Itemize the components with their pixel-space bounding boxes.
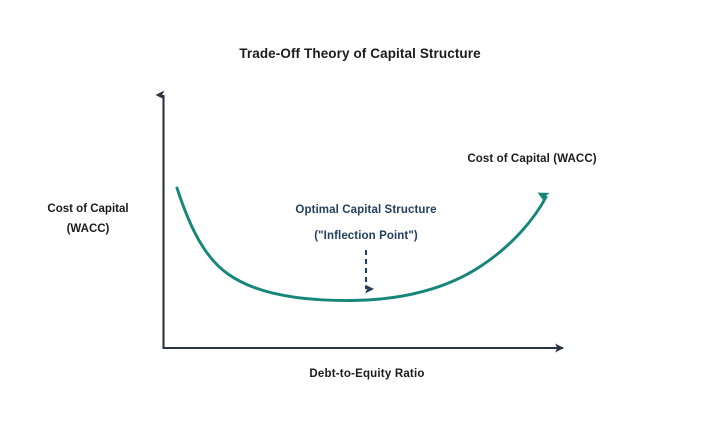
curve-label: Cost of Capital (WACC) xyxy=(372,153,692,165)
chart-figure: Trade-Off Theory of Capital Structure Co… xyxy=(0,0,720,425)
y-axis-label-line2: (WACC) xyxy=(0,219,176,239)
annotation-line2: ("Inflection Point") xyxy=(216,223,516,249)
optimal-structure-annotation: Optimal Capital Structure ("Inflection P… xyxy=(216,197,516,249)
chart-title: Trade-Off Theory of Capital Structure xyxy=(0,46,720,61)
y-axis-label: Cost of Capital (WACC) xyxy=(0,199,176,239)
annotation-line1: Optimal Capital Structure xyxy=(216,197,516,223)
x-axis-label: Debt-to-Equity Ratio xyxy=(207,368,527,380)
y-axis-label-line1: Cost of Capital xyxy=(0,199,176,219)
